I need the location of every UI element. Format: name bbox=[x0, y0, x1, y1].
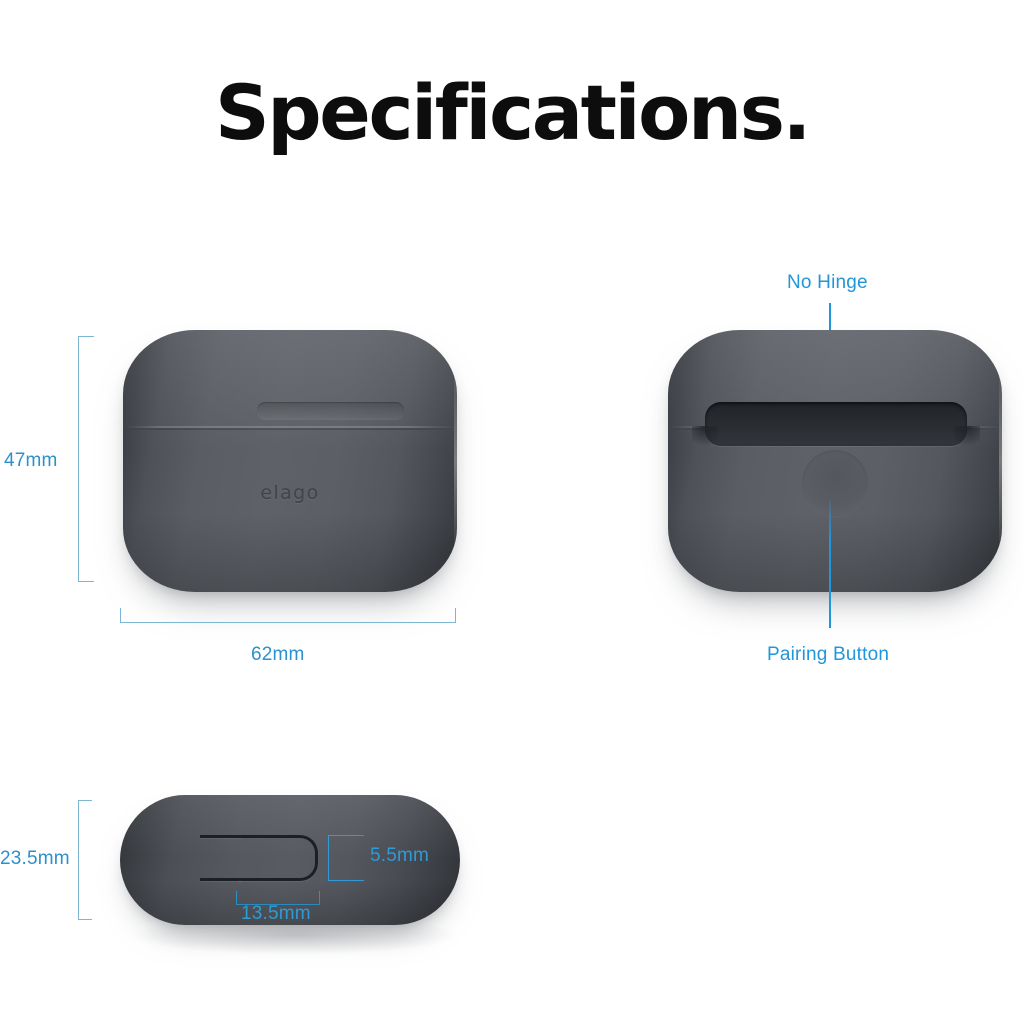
airpods-case-front: elago bbox=[123, 330, 457, 592]
right-edge-highlight bbox=[999, 361, 1002, 560]
height-dimension-label: 47mm bbox=[4, 450, 58, 472]
depth-dimension-label: 23.5mm bbox=[0, 848, 70, 870]
width-dimension-label: 62mm bbox=[251, 644, 305, 666]
callout-leader-pairing-button bbox=[829, 500, 831, 628]
charging-port-cutout bbox=[238, 835, 318, 881]
brand-logo: elago bbox=[260, 482, 319, 504]
callout-label-no-hinge: No Hinge bbox=[787, 272, 868, 294]
port-height-dimension-bracket bbox=[328, 835, 364, 881]
lid-seam-shadow bbox=[123, 428, 457, 430]
depth-dimension-bracket bbox=[78, 800, 92, 920]
page-title: Specifications. bbox=[0, 68, 1024, 157]
callout-label-pairing-button: Pairing Button bbox=[767, 644, 889, 666]
hinge-notch-left bbox=[692, 426, 718, 452]
lid-seam-highlight bbox=[123, 426, 457, 428]
lid-seam-shadow bbox=[668, 428, 1002, 430]
pairing-button-indent bbox=[802, 450, 868, 516]
charging-port-prong-bottom bbox=[200, 878, 242, 881]
lid-seam-highlight bbox=[668, 426, 1002, 428]
airpods-case-back bbox=[668, 330, 1002, 592]
right-edge-highlight bbox=[454, 361, 457, 560]
height-dimension-bracket bbox=[78, 336, 94, 582]
lid-groove bbox=[257, 402, 404, 419]
hinge-slot-opening bbox=[705, 402, 967, 446]
charging-port-prong-top bbox=[200, 835, 242, 838]
hinge-notch-right bbox=[954, 426, 980, 452]
port-width-dimension-label: 13.5mm bbox=[241, 903, 311, 925]
width-dimension-bracket bbox=[120, 608, 456, 623]
port-height-dimension-label: 5.5mm bbox=[370, 845, 429, 867]
